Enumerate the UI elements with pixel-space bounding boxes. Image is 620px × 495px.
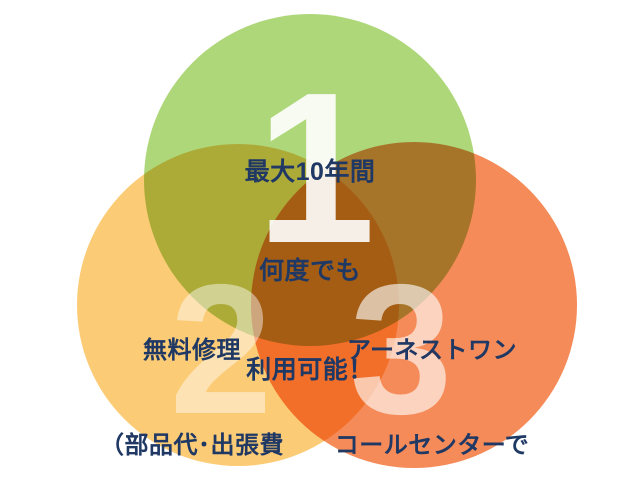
caption-2-line-2: （部品代･出張費 <box>82 430 302 462</box>
caption-circle-2: 無料修理 （部品代･出張費 含む） <box>82 272 302 495</box>
caption-3-line-1: アーネストワン <box>320 335 544 367</box>
venn-diagram-stage: 1 2 3 最大10年間 何度でも 利用可能！ 無料修理 （部品代･出張費 含む… <box>0 0 620 495</box>
caption-circle-3: アーネストワン コールセンターで 受付対応 <box>320 272 544 495</box>
caption-1-line-1: 最大10年間 <box>196 156 424 189</box>
caption-3-line-2: コールセンターで <box>320 430 544 462</box>
caption-2-line-1: 無料修理 <box>82 335 302 367</box>
